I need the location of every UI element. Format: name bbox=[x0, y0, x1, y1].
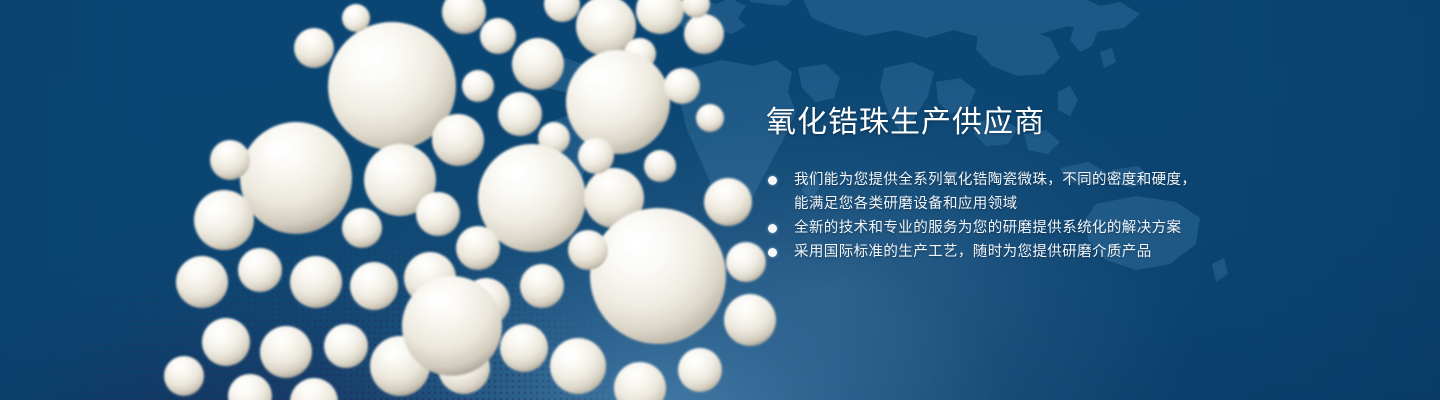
bullet-dot-icon bbox=[768, 224, 777, 233]
bullet-dot-icon bbox=[768, 248, 777, 257]
banner-content: 氧化锆珠生产供应商 我们能为您提供全系列氧化锆陶瓷微珠，不同的密度和硬度， 能满… bbox=[766, 104, 1326, 264]
list-item-line1: 全新的技术和专业的服务为您的研磨提供系统化的解决方案 bbox=[794, 220, 1181, 236]
product-banner: 氧化锆珠生产供应商 我们能为您提供全系列氧化锆陶瓷微珠，不同的密度和硬度， 能满… bbox=[0, 0, 1440, 400]
zirconia-beads-image bbox=[100, 0, 820, 400]
list-item-line1: 我们能为您提供全系列氧化锆陶瓷微珠，不同的密度和硬度， bbox=[794, 172, 1196, 188]
list-item: 我们能为您提供全系列氧化锆陶瓷微珠，不同的密度和硬度， 能满足您各类研磨设备和应… bbox=[766, 168, 1326, 216]
list-item-line2: 能满足您各类研磨设备和应用领域 bbox=[794, 192, 1326, 216]
bullet-dot-icon bbox=[768, 176, 777, 185]
feature-list: 我们能为您提供全系列氧化锆陶瓷微珠，不同的密度和硬度， 能满足您各类研磨设备和应… bbox=[766, 168, 1326, 264]
list-item-line1: 采用国际标准的生产工艺，随时为您提供研磨介质产品 bbox=[794, 244, 1152, 260]
page-title: 氧化锆珠生产供应商 bbox=[766, 104, 1326, 142]
list-item: 全新的技术和专业的服务为您的研磨提供系统化的解决方案 bbox=[766, 216, 1326, 240]
list-item: 采用国际标准的生产工艺，随时为您提供研磨介质产品 bbox=[766, 240, 1326, 264]
